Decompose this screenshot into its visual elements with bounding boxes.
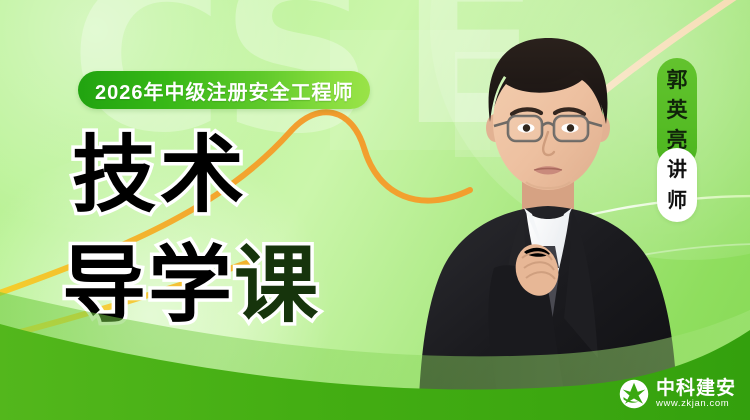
brand-logo: 中科建安 www.zkjan.com — [619, 378, 736, 410]
course-subject-badge: 2026年中级注册安全工程师 — [78, 71, 370, 109]
brand-logo-text: 中科建安 www.zkjan.com — [656, 378, 736, 410]
zkjan-star-icon — [619, 379, 649, 409]
instructor-name-char-2: 英 — [667, 95, 688, 125]
instructor-name-char-1: 郭 — [667, 65, 688, 95]
instructor-role-char-2: 师 — [667, 185, 687, 216]
brand-url: www.zkjan.com — [656, 398, 736, 410]
page-title-line1: 技术 — [72, 133, 248, 217]
course-banner: C S E — [0, 0, 750, 420]
instructor-role-char-1: 讲 — [667, 154, 687, 185]
brand-name: 中科建安 — [656, 378, 736, 398]
instructor-role-pill: 讲 师 — [657, 148, 697, 222]
badge-label: 2026年中级注册安全工程师 — [95, 76, 354, 105]
